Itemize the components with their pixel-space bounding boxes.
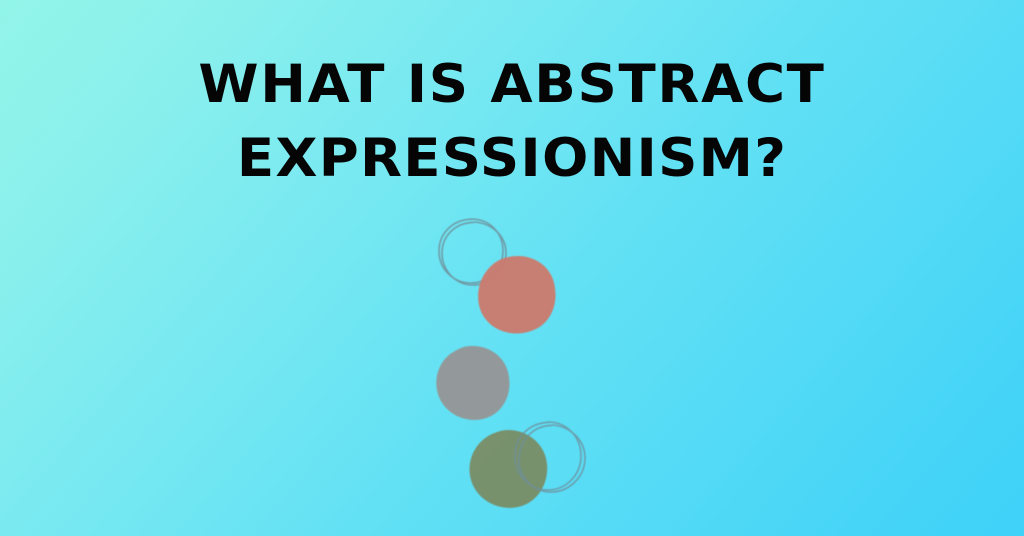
page-title-line-2: EXPRESSIONISM? [77, 122, 946, 196]
page-title-line-1: WHAT IS ABSTRACT [77, 48, 946, 122]
page-title: WHAT IS ABSTRACT EXPRESSIONISM? [0, 48, 1024, 196]
slide-canvas: WHAT IS ABSTRACT EXPRESSIONISM? [0, 0, 1024, 536]
blob-gray-shape [436, 346, 509, 420]
blob-salmon-shape [478, 256, 555, 333]
blob-olive-shape [469, 430, 547, 508]
abstract-circles-graphic [424, 206, 614, 526]
